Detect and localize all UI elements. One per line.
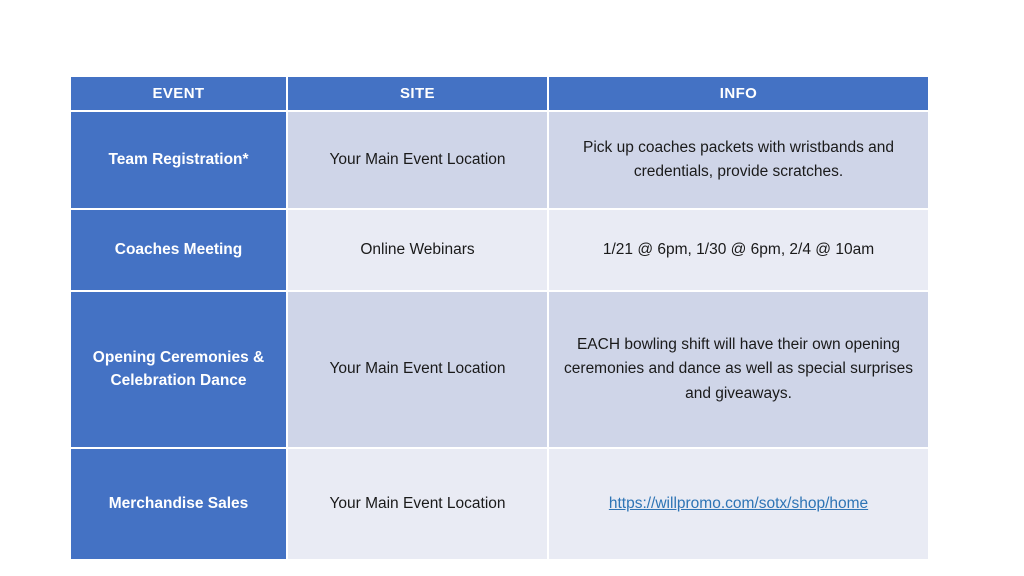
cell-info-coaches-meeting: 1/21 @ 6pm, 1/30 @ 6pm, 2/4 @ 10am	[549, 210, 928, 292]
column-header-info: INFO	[549, 77, 928, 112]
table-row: Opening Ceremonies & Celebration Dance Y…	[71, 292, 928, 449]
column-header-site: SITE	[288, 77, 549, 112]
cell-event-coaches-meeting: Coaches Meeting	[71, 210, 288, 292]
cell-site-opening-ceremonies: Your Main Event Location	[288, 292, 549, 449]
cell-info-team-registration: Pick up coaches packets with wristbands …	[549, 112, 928, 210]
cell-event-merchandise-sales: Merchandise Sales	[71, 449, 288, 561]
cell-event-opening-ceremonies: Opening Ceremonies & Celebration Dance	[71, 292, 288, 449]
slide-canvas: EVENT SITE INFO Team Registration* Your …	[0, 0, 1024, 576]
table-row: Merchandise Sales Your Main Event Locati…	[71, 449, 928, 561]
merchandise-shop-link[interactable]: https://willpromo.com/sotx/shop/home	[609, 495, 868, 512]
column-header-event: EVENT	[71, 77, 288, 112]
table-row: Coaches Meeting Online Webinars 1/21 @ 6…	[71, 210, 928, 292]
table-header: EVENT SITE INFO	[71, 77, 928, 112]
cell-site-coaches-meeting: Online Webinars	[288, 210, 549, 292]
cell-info-merchandise-sales: https://willpromo.com/sotx/shop/home	[549, 449, 928, 561]
cell-info-opening-ceremonies: EACH bowling shift will have their own o…	[549, 292, 928, 449]
table-body: Team Registration* Your Main Event Locat…	[71, 112, 928, 561]
table-row: Team Registration* Your Main Event Locat…	[71, 112, 928, 210]
table-header-row: EVENT SITE INFO	[71, 77, 928, 112]
cell-site-merchandise-sales: Your Main Event Location	[288, 449, 549, 561]
cell-event-team-registration: Team Registration*	[71, 112, 288, 210]
cell-site-team-registration: Your Main Event Location	[288, 112, 549, 210]
schedule-table: EVENT SITE INFO Team Registration* Your …	[71, 77, 928, 561]
